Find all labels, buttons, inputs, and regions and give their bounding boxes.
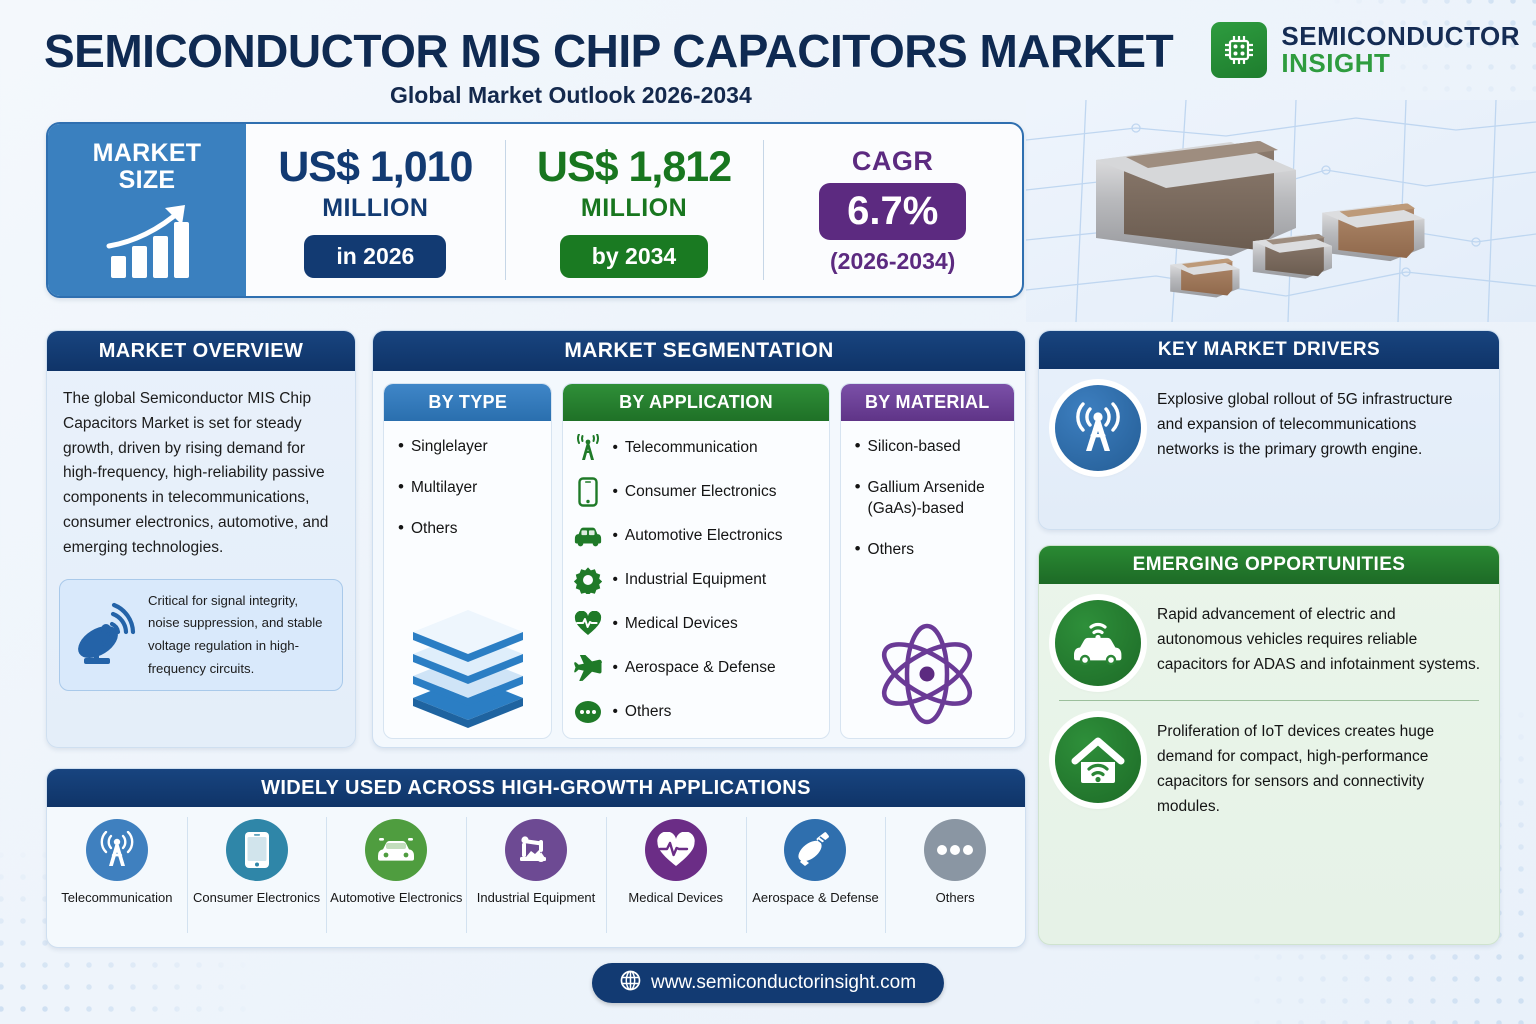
website-url-text: www.semiconductorinsight.com: [651, 972, 916, 994]
app-item-4-row: •Medical Devices: [612, 615, 737, 633]
list-item: •Consumer Electronics: [573, 475, 822, 509]
forecast-year-metric: US$ 1,812 MILLION by 2034: [505, 124, 764, 296]
market-overview-note-text: Critical for signal integrity, noise sup…: [148, 590, 332, 681]
list-item: •Telecommunication: [573, 431, 822, 465]
opportunity-text-1: Proliferation of IoT devices creates hug…: [1157, 717, 1481, 819]
application-cell-consumer-electronics: Consumer Electronics: [187, 807, 327, 947]
antenna-tower-icon: [1055, 385, 1141, 471]
website-url-badge[interactable]: www.semiconductorinsight.com: [592, 963, 944, 1003]
bullet-icon: •: [398, 478, 404, 499]
market-size-banner: MARKET SIZE US$ 1,010 MILLION in 2026 US…: [46, 122, 1024, 298]
forecast-unit: MILLION: [581, 194, 687, 223]
segment-type-item-2: Others: [411, 519, 458, 540]
emerging-opportunities-panel: EMERGING OPPORTUNITIES Rapid advancement…: [1038, 545, 1500, 945]
antenna-tower-icon: [86, 819, 148, 881]
application-cell-aerospace-defense: Aerospace & Defense: [746, 807, 886, 947]
satellite-dish-icon: [68, 596, 140, 673]
tablet-icon: [226, 819, 288, 881]
segment-type-item-1: Multilayer: [411, 478, 477, 499]
market-overview-note: Critical for signal integrity, noise sup…: [59, 579, 343, 692]
antenna-tower-icon: [573, 433, 603, 463]
opportunity-row: Proliferation of IoT devices creates hug…: [1039, 701, 1499, 819]
car-icon: [573, 521, 603, 551]
key-market-drivers-panel: KEY MARKET DRIVERS Explosive global roll…: [1038, 330, 1500, 530]
segment-material-item-0: Silicon-based: [868, 437, 961, 458]
list-item: •Automotive Electronics: [573, 519, 822, 553]
forecast-year-pill: by 2034: [560, 235, 708, 278]
stacked-layers-icon: [384, 610, 551, 730]
segment-by-type-header: BY TYPE: [384, 384, 551, 421]
ellipsis-circle-icon: [573, 697, 603, 727]
bullet-icon: •: [398, 519, 404, 540]
list-item: •Gallium Arsenide (GaAs)-based: [855, 478, 1004, 520]
app-item-5: Aerospace & Defense: [625, 659, 776, 677]
bullet-icon: •: [612, 659, 617, 677]
market-size-label-line1: MARKET: [93, 140, 202, 167]
list-item: •Aerospace & Defense: [573, 651, 822, 685]
segment-by-material: BY MATERIAL •Silicon-based •Gallium Arse…: [840, 383, 1015, 739]
base-year-metric: US$ 1,010 MILLION in 2026: [246, 124, 505, 296]
bullet-icon: •: [612, 483, 617, 501]
driver-row: Explosive global rollout of 5G infrastru…: [1039, 369, 1499, 471]
app-item-3-row: •Industrial Equipment: [612, 571, 766, 589]
segment-by-application: BY APPLICATION •Telecommunication •Consu…: [562, 383, 829, 739]
list-item: •Others: [398, 519, 541, 540]
smart-home-wifi-icon: [1055, 717, 1141, 803]
application-label-1: Consumer Electronics: [193, 889, 320, 907]
application-cell-automotive-electronics: Automotive Electronics: [326, 807, 466, 947]
app-item-4: Medical Devices: [625, 615, 738, 633]
car-front-icon: [365, 819, 427, 881]
cagr-label: CAGR: [852, 146, 934, 177]
connected-car-icon: [1055, 600, 1141, 686]
bullet-icon: •: [855, 437, 861, 458]
app-item-6: Others: [625, 703, 672, 721]
globe-icon: [620, 970, 641, 997]
application-cell-industrial-equipment: Industrial Equipment: [466, 807, 606, 947]
heart-pulse-icon: [573, 609, 603, 639]
emerging-opportunities-title: EMERGING OPPORTUNITIES: [1039, 546, 1499, 584]
base-unit: MILLION: [322, 194, 428, 223]
gear-icon: [573, 565, 603, 595]
list-item: •Industrial Equipment: [573, 563, 822, 597]
bullet-icon: •: [612, 439, 617, 457]
segment-type-item-0: Singlelayer: [411, 437, 488, 458]
key-market-drivers-title: KEY MARKET DRIVERS: [1039, 331, 1499, 369]
base-value: US$ 1,010: [278, 143, 472, 192]
app-item-1: Consumer Electronics: [625, 483, 777, 501]
logo-text-secondary: INSIGHT: [1281, 50, 1520, 77]
market-overview-body: The global Semiconductor MIS Chip Capaci…: [47, 371, 355, 561]
smartphone-icon: [573, 477, 603, 507]
app-item-3: Industrial Equipment: [625, 571, 766, 589]
microchip-icon: [1211, 22, 1267, 78]
bullet-icon: •: [612, 703, 617, 721]
forecast-value: US$ 1,812: [537, 143, 731, 192]
application-cell-others: Others: [885, 807, 1025, 947]
list-item: •Silicon-based: [855, 437, 1004, 458]
market-size-label-line2: SIZE: [119, 167, 176, 194]
list-item: •Singlelayer: [398, 437, 541, 458]
brand-logo: SEMICONDUCTOR INSIGHT: [1211, 22, 1520, 78]
opportunity-text-0: Rapid advancement of electric and autono…: [1157, 600, 1481, 677]
application-cell-telecommunication: Telecommunication: [47, 807, 187, 947]
app-item-0-row: •Telecommunication: [612, 439, 757, 457]
application-cell-medical-devices: Medical Devices: [606, 807, 746, 947]
bullet-icon: •: [612, 615, 617, 633]
segment-material-item-2: Others: [868, 540, 915, 561]
atom-icon: [841, 618, 1014, 730]
market-segmentation-panel: MARKET SEGMENTATION BY TYPE •Singlelayer…: [372, 330, 1026, 748]
list-item: •Others: [573, 695, 822, 729]
cagr-period: (2026-2034): [830, 248, 955, 275]
application-label-2: Automotive Electronics: [330, 889, 462, 907]
opportunity-row: Rapid advancement of electric and autono…: [1039, 584, 1499, 686]
application-label-0: Telecommunication: [61, 889, 172, 907]
application-label-5: Aerospace & Defense: [752, 889, 878, 907]
growth-bar-chart-icon: [97, 200, 197, 287]
app-item-5-row: •Aerospace & Defense: [612, 659, 775, 677]
bullet-icon: •: [398, 437, 404, 458]
list-item: •Others: [855, 540, 1004, 561]
page-title: SEMICONDUCTOR MIS CHIP CAPACITORS MARKET: [44, 24, 1204, 78]
bullet-icon: •: [855, 478, 861, 520]
airplane-icon: [573, 653, 603, 683]
segment-by-type: BY TYPE •Singlelayer •Multilayer •Others: [383, 383, 552, 739]
application-label-4: Medical Devices: [628, 889, 723, 907]
robot-arm-icon: [505, 819, 567, 881]
segment-by-application-header: BY APPLICATION: [563, 384, 828, 421]
applications-strip-title: WIDELY USED ACROSS HIGH-GROWTH APPLICATI…: [47, 769, 1025, 807]
base-year-pill: in 2026: [304, 235, 446, 278]
satellite-icon: [784, 819, 846, 881]
segment-by-material-header: BY MATERIAL: [841, 384, 1014, 421]
application-label-3: Industrial Equipment: [477, 889, 596, 907]
page-subtitle: Global Market Outlook 2026-2034: [390, 82, 752, 109]
key-market-drivers-text: Explosive global rollout of 5G infrastru…: [1157, 385, 1481, 462]
segment-material-item-1: Gallium Arsenide (GaAs)-based: [868, 478, 1004, 520]
applications-strip-panel: WIDELY USED ACROSS HIGH-GROWTH APPLICATI…: [46, 768, 1026, 948]
app-item-1-row: •Consumer Electronics: [612, 483, 776, 501]
application-label-6: Others: [936, 889, 975, 907]
bullet-icon: •: [612, 571, 617, 589]
app-item-2-row: •Automotive Electronics: [612, 527, 782, 545]
app-item-2: Automotive Electronics: [625, 527, 783, 545]
bullet-icon: •: [612, 527, 617, 545]
app-item-6-row: •Others: [612, 703, 671, 721]
cagr-metric: CAGR 6.7% (2026-2034): [763, 124, 1022, 296]
list-item: •Multilayer: [398, 478, 541, 499]
list-item: •Medical Devices: [573, 607, 822, 641]
bullet-icon: •: [855, 540, 861, 561]
heart-pulse-icon: [645, 819, 707, 881]
market-overview-panel: MARKET OVERVIEW The global Semiconductor…: [46, 330, 356, 748]
chip-capacitors-hero-image: [1026, 100, 1536, 322]
ellipsis-icon: [924, 819, 986, 881]
cagr-value: 6.7%: [819, 183, 966, 240]
market-segmentation-title: MARKET SEGMENTATION: [373, 331, 1025, 371]
logo-text-primary: SEMICONDUCTOR: [1281, 23, 1520, 50]
market-overview-title: MARKET OVERVIEW: [47, 331, 355, 371]
app-item-0: Telecommunication: [625, 439, 758, 457]
market-size-label-block: MARKET SIZE: [48, 124, 246, 296]
